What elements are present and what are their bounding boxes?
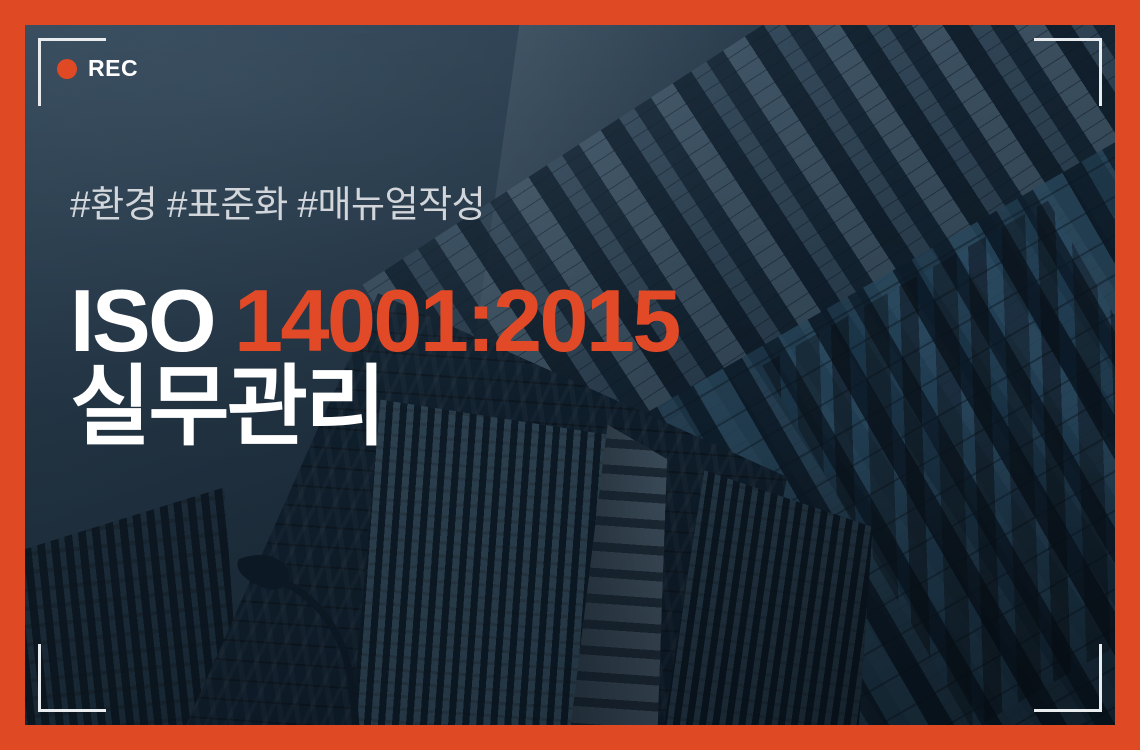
- poster-canvas: REC #환경 #표준화 #매뉴얼작성 ISO14001:2015 실무관리: [0, 0, 1140, 750]
- headline-subtitle: 실무관리: [70, 357, 384, 456]
- rec-label: REC: [88, 57, 138, 80]
- page-title: ISO14001:2015 실무관리: [70, 278, 679, 450]
- headline-standard-number: 14001:2015: [234, 271, 679, 370]
- hero-copy: #환경 #표준화 #매뉴얼작성 ISO14001:2015 실무관리: [70, 185, 679, 450]
- hashtag-line: #환경 #표준화 #매뉴얼작성: [70, 185, 679, 226]
- background-photo: REC #환경 #표준화 #매뉴얼작성 ISO14001:2015 실무관리: [25, 25, 1115, 725]
- record-dot-icon: [57, 59, 77, 79]
- rec-badge: REC: [57, 57, 138, 80]
- headline-iso: ISO: [70, 271, 214, 370]
